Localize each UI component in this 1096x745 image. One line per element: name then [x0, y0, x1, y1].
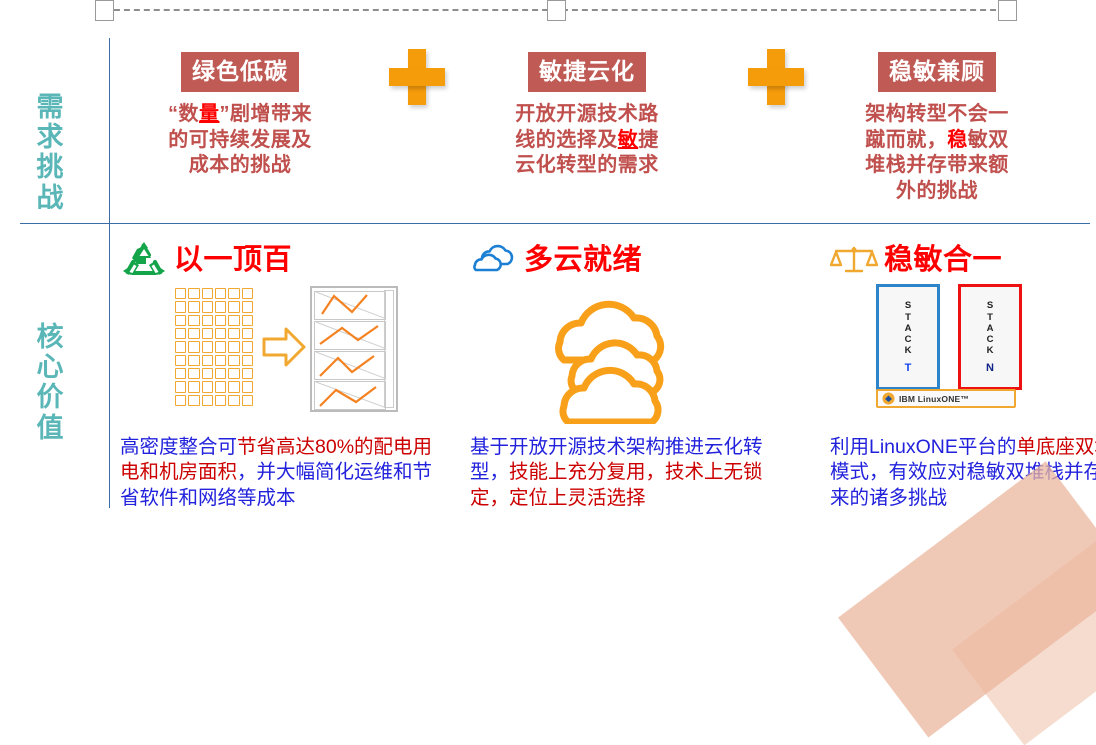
- challenge-body: “数量”剧增带来的可持续发展及成本的挑战: [165, 102, 315, 179]
- stack-box-t: S T A C K T: [876, 284, 940, 390]
- challenge-body: 架构转型不会一蹴而就，稳敏双堆栈并存带来额外的挑战: [862, 102, 1012, 204]
- row-label-demand-challenge: 需 求 挑 战: [20, 92, 80, 213]
- cloud-stack: [520, 284, 740, 424]
- stack-letter-t: T: [905, 312, 912, 323]
- stacked-clouds-graphic: [470, 284, 790, 429]
- vertical-divider: [109, 38, 110, 508]
- stack-letter-k: K: [905, 345, 912, 356]
- stack-letter-a: A: [905, 323, 912, 334]
- linuxone-badge-text: IBM LinuxONE™: [899, 394, 969, 404]
- row-label-char: 价: [20, 382, 80, 412]
- value-desc-blue-1: 利用LinuxONE平台的: [830, 436, 1016, 458]
- challenge-header: 稳敏兼顾: [878, 52, 996, 92]
- consolidated-rack: [310, 286, 398, 412]
- challenge-body-highlight: 敏: [618, 129, 639, 151]
- value-card-one-for-hundred: 以一顶百: [120, 240, 440, 511]
- value-title-row: 稳敏合一: [830, 240, 1096, 280]
- stack-box-n: S T A C K N: [958, 284, 1022, 390]
- value-title: 多云就绪: [524, 246, 642, 275]
- stack-letter-k: K: [987, 345, 994, 356]
- stack-letter-a: A: [987, 323, 994, 334]
- plus-icon: [389, 49, 445, 105]
- cloud-icon: [470, 241, 518, 279]
- value-description: 利用LinuxONE平台的单底座双堆栈模式，有效应对稳敏双堆栈并存期带来的诸多挑…: [830, 435, 1096, 511]
- challenge-header: 绿色低碳: [181, 52, 299, 92]
- ibm-linuxone-badge: IBM LinuxONE™: [876, 389, 1016, 408]
- dual-stack-diagram: S T A C K T S T A C K N: [870, 284, 1060, 412]
- row-label-char: 战: [20, 183, 80, 213]
- value-desc-red: 单底座双堆栈: [1016, 436, 1096, 458]
- challenge-header: 敏捷云化: [528, 52, 646, 92]
- stack-tag-n: N: [986, 362, 994, 374]
- recycle-icon: [120, 241, 168, 279]
- balance-scale-icon: [830, 241, 878, 279]
- value-title-row: 多云就绪: [470, 240, 790, 280]
- challenge-card-agile-cloud: 敏捷云化 开放开源技术路线的选择及敏捷云化转型的需求: [512, 52, 662, 179]
- stack-letter-s: S: [905, 300, 912, 311]
- stack-word: S T A C K: [905, 300, 912, 356]
- value-card-multicloud-ready: 多云就绪 基于开放开源技术架构推进云化转型，技能上充分复用，技术上无锁定，定位上…: [470, 240, 790, 511]
- horizontal-divider: [20, 223, 1090, 224]
- challenge-body: 开放开源技术路线的选择及敏捷云化转型的需求: [512, 102, 662, 179]
- value-description: 基于开放开源技术架构推进云化转型，技能上充分复用，技术上无锁定，定位上灵活选择: [470, 435, 790, 511]
- value-desc-blue-1: 高密度整合可: [120, 436, 237, 458]
- ruler-bar[interactable]: [0, 0, 1096, 22]
- dual-stack-linuxone-graphic: S T A C K T S T A C K N: [830, 284, 1096, 429]
- stack-letter-c: C: [905, 334, 912, 345]
- value-desc-blue-2: 模式，有效应对稳敏双堆栈并存期带来的诸多挑战: [830, 461, 1096, 508]
- server-consolidation-graphic: [120, 284, 440, 429]
- value-card-stable-agile-unified: 稳敏合一 S T A C K T S T A C K: [830, 240, 1096, 511]
- server-grid: [175, 288, 253, 406]
- row-label-char: 挑: [20, 152, 80, 182]
- row-label-char: 求: [20, 122, 80, 152]
- challenge-body-highlight: 稳: [947, 129, 968, 151]
- ruler-left-indent-handle[interactable]: [95, 0, 114, 21]
- linuxone-logo-icon: [882, 392, 895, 405]
- row-label-char: 核: [20, 322, 80, 352]
- ruler-center-tab-handle[interactable]: [547, 0, 566, 21]
- challenge-body-highlight: 量: [199, 103, 220, 125]
- challenge-card-green-low-carbon: 绿色低碳 “数量”剧增带来的可持续发展及成本的挑战: [165, 52, 315, 179]
- stack-word: S T A C K: [987, 300, 994, 356]
- value-title: 以一顶百: [174, 246, 292, 275]
- arrow-right-icon: [262, 326, 306, 368]
- row-label-char: 值: [20, 413, 80, 443]
- value-description: 高密度整合可节省高达80%的配电用电和机房面积，并大幅简化运维和节省软件和网络等…: [120, 435, 440, 511]
- stack-tag-t: T: [905, 362, 912, 374]
- row-label-core-value: 核 心 价 值: [20, 322, 80, 443]
- row-label-char: 心: [20, 352, 80, 382]
- corner-ribbon-light: [952, 505, 1096, 745]
- plus-icon: [748, 49, 804, 105]
- challenge-body-pre: “数: [168, 103, 199, 125]
- value-title: 稳敏合一: [884, 246, 1002, 275]
- stack-letter-s: S: [987, 300, 994, 311]
- challenge-card-stability-agility: 稳敏兼顾 架构转型不会一蹴而就，稳敏双堆栈并存带来额外的挑战: [862, 52, 1012, 204]
- row-label-char: 需: [20, 92, 80, 122]
- ruler-right-indent-handle[interactable]: [998, 0, 1017, 21]
- stack-letter-t: T: [987, 312, 994, 323]
- value-title-row: 以一顶百: [120, 240, 440, 280]
- stack-letter-c: C: [987, 334, 994, 345]
- value-desc-red: 技能上充分复用，技术上无锁定，定位上灵活选择: [470, 461, 763, 508]
